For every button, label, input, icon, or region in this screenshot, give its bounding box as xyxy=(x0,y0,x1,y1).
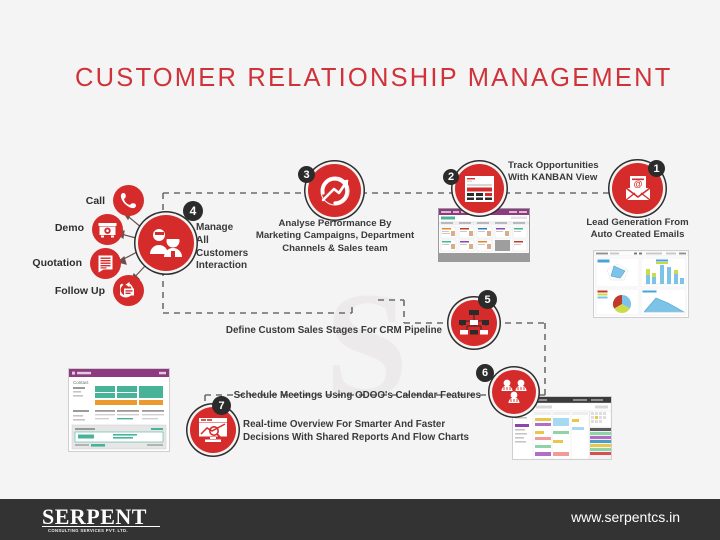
projector-demo-icon xyxy=(98,222,117,238)
footer-website-url[interactable]: www.serpentcs.in xyxy=(571,509,680,525)
step-7-caption: Real-time Overview For Smarter And Faste… xyxy=(243,419,503,444)
quotation-icon-circle[interactable] xyxy=(90,248,121,279)
followup-icon-circle[interactable] xyxy=(113,275,144,306)
step-3-badge: 3 xyxy=(298,166,315,183)
flowchart-hierarchy-icon xyxy=(459,309,489,337)
step-1-caption: Lead Generation From Auto Created Emails xyxy=(572,217,703,242)
step-7-caption-line1: Real-time Overview For Smarter And Faste… xyxy=(243,419,503,432)
serpent-logo-subtitle: CONSULTING SERVICES PVT. LTD. xyxy=(48,528,128,533)
step-5-badge: 5 xyxy=(478,290,497,309)
page-footer: SERPENT CONSULTING SERVICES PVT. LTD. ww… xyxy=(0,497,720,540)
interaction-label-followup: Follow Up xyxy=(15,285,105,297)
step-3-circle[interactable] xyxy=(308,164,361,217)
step-1-caption-line1: Lead Generation From xyxy=(572,217,703,229)
step-4-caption-line2: All xyxy=(196,235,286,248)
step-2-caption: Track Opportunities With KANBAN View xyxy=(508,160,648,185)
phone-icon xyxy=(120,192,137,209)
step-2-caption-line2: With KANBAN View xyxy=(508,172,648,184)
infographic-canvas: S CUSTOMER RELATIONSHIP MANAGEMENT xyxy=(0,0,720,540)
two-people-icon xyxy=(146,226,186,260)
step-6-circle[interactable] xyxy=(492,370,536,414)
step-7-caption-line2: Decisions With Shared Reports And Flow C… xyxy=(243,432,503,445)
step-6-caption: Schedule Meetings Using ODOO's Calendar … xyxy=(215,390,481,402)
step-4-caption-line1: Manage xyxy=(196,222,286,235)
group-meeting-icon xyxy=(498,377,530,407)
step-6-badge: 6 xyxy=(476,364,494,382)
step-1-badge: 1 xyxy=(648,160,665,177)
step-2-badge: 2 xyxy=(443,169,459,185)
step-4-caption: Manage All Customers Interaction xyxy=(196,222,286,273)
step-4-caption-line4: Interaction xyxy=(196,260,286,273)
step-2-circle[interactable] xyxy=(455,164,504,213)
step-1-caption-line2: Auto Created Emails xyxy=(572,229,703,241)
step-2-caption-line1: Track Opportunities xyxy=(508,160,648,172)
interaction-label-quotation: Quotation xyxy=(0,257,82,269)
interaction-label-demo: Demo xyxy=(10,222,84,234)
step-7-circle[interactable] xyxy=(190,407,236,453)
step-4-caption-line3: Customers xyxy=(196,248,286,261)
demo-icon-circle[interactable] xyxy=(92,214,123,245)
call-icon-circle[interactable] xyxy=(113,185,144,216)
document-quote-icon xyxy=(97,255,114,273)
serpent-logo: SERPENT xyxy=(42,506,147,528)
growth-analytics-icon xyxy=(318,174,352,208)
serpent-logo-rule xyxy=(42,526,160,527)
footer-top-divider xyxy=(0,497,720,499)
interaction-label-call: Call xyxy=(20,195,105,207)
report-chart-window-icon xyxy=(198,417,228,443)
step-4-badge: 4 xyxy=(183,201,203,221)
step-4-circle[interactable] xyxy=(138,215,194,271)
dashboard-page-icon xyxy=(465,176,494,202)
step-5-caption: Define Custom Sales Stages For CRM Pipel… xyxy=(180,325,442,337)
followup-reply-icon xyxy=(120,282,138,299)
